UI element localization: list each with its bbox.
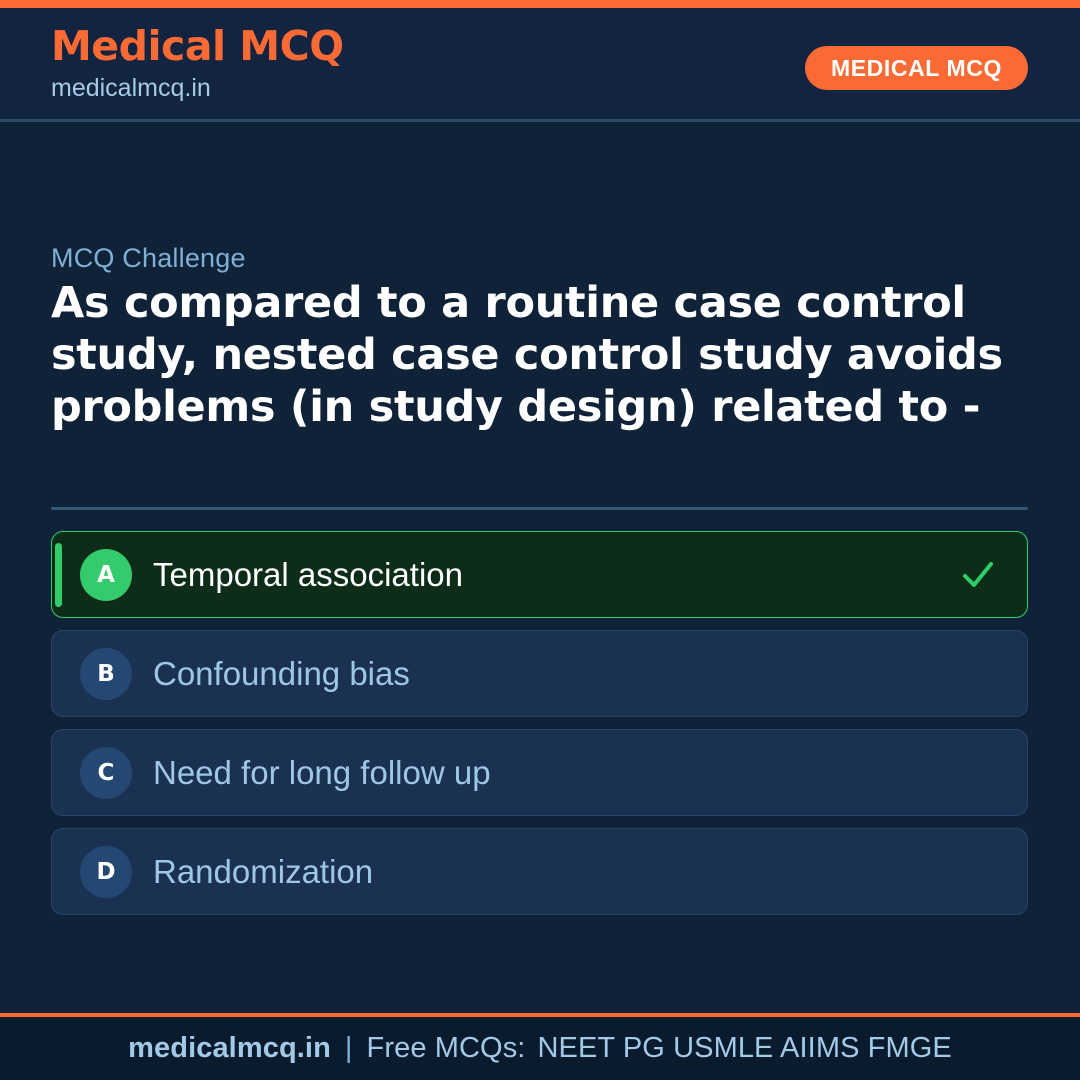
- option-label: Temporal association: [153, 556, 463, 594]
- eyebrow-label: MCQ Challenge: [51, 243, 246, 274]
- footer-exams-label: Free MCQs:: [367, 1032, 526, 1064]
- footer-exams-list: NEET PG USMLE AIIMS FMGE: [525, 1032, 951, 1064]
- option-label: Randomization: [153, 853, 373, 891]
- correct-accent-bar: [55, 543, 62, 607]
- option-b[interactable]: BConfounding bias: [51, 630, 1028, 717]
- option-letter-badge: D: [80, 846, 132, 898]
- brand-title: Medical MCQ: [51, 22, 344, 70]
- footer-text-line: medicalmcq.in|Free MCQs:NEET PG USMLE AI…: [128, 1032, 952, 1065]
- question-text: As compared to a routine case control st…: [51, 277, 1036, 433]
- option-letter-badge: A: [80, 549, 132, 601]
- question-divider: [51, 507, 1028, 510]
- brand-block: Medical MCQ medicalmcq.in: [51, 22, 344, 103]
- header-badge-label: MEDICAL MCQ: [831, 55, 1002, 82]
- option-d[interactable]: DRandomization: [51, 828, 1028, 915]
- option-c[interactable]: CNeed for long follow up: [51, 729, 1028, 816]
- page-header: Medical MCQ medicalmcq.in MEDICAL MCQ: [0, 8, 1080, 122]
- option-label: Need for long follow up: [153, 754, 491, 792]
- option-a[interactable]: ATemporal association: [51, 531, 1028, 618]
- footer-separator: |: [331, 1032, 367, 1064]
- header-badge[interactable]: MEDICAL MCQ: [805, 46, 1028, 90]
- option-letter-badge: C: [80, 747, 132, 799]
- brand-subtitle: medicalmcq.in: [51, 73, 344, 103]
- check-icon: [961, 558, 995, 592]
- page-footer: medicalmcq.in|Free MCQs:NEET PG USMLE AI…: [0, 1017, 1080, 1080]
- option-label: Confounding bias: [153, 655, 410, 693]
- option-letter-badge: B: [80, 648, 132, 700]
- main-content: MCQ Challenge As compared to a routine c…: [0, 125, 1080, 1013]
- footer-site-link[interactable]: medicalmcq.in: [128, 1032, 331, 1064]
- top-accent-bar: [0, 0, 1080, 8]
- options-list: ATemporal associationBConfounding biasCN…: [51, 531, 1028, 927]
